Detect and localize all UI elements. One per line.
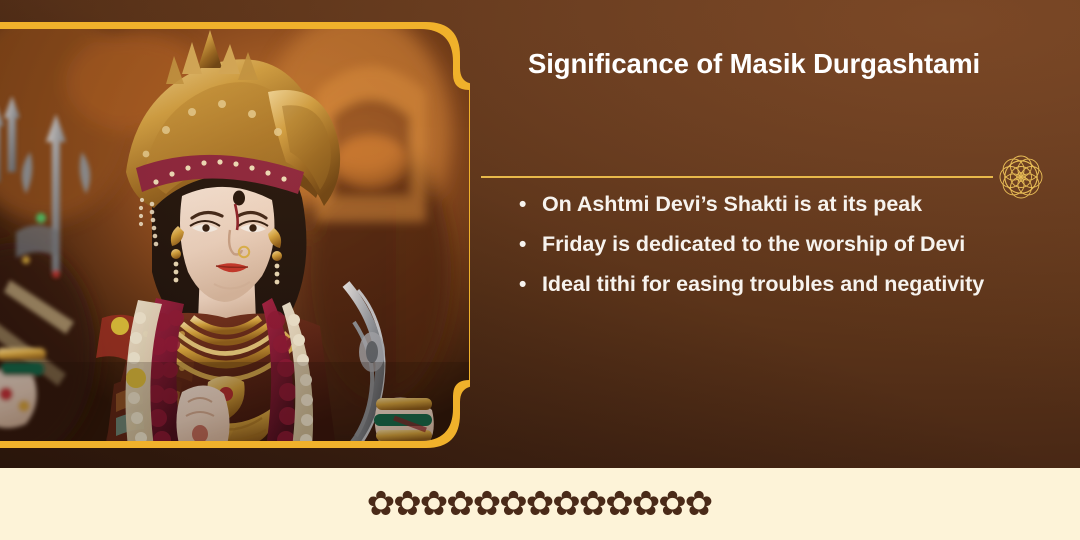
bullet-item-3: Ideal tithi for easing troubles and nega… (516, 265, 1056, 305)
bullet-item-2: Friday is dedicated to the worship of De… (516, 225, 1056, 265)
flower-glyph: ✿ (605, 487, 634, 521)
bullet-item-1: On Ashtmi Devi’s Shakti is at its peak (516, 185, 1056, 225)
slide-canvas: Significance of Masik Durgashtami (0, 0, 1080, 540)
flower-glyph: ✿ (420, 487, 449, 521)
flower-glyph: ✿ (499, 487, 528, 521)
flower-glyph: ✿ (552, 487, 581, 521)
content-column: Significance of Masik Durgashtami (497, 0, 1080, 468)
durga-idol-photo (0, 22, 470, 448)
flower-glyph: ✿ (632, 487, 661, 521)
flower-ornament-row: ✿✿✿✿✿✿✿✿✿✿✿✿✿ (368, 487, 713, 521)
bullet-list: On Ashtmi Devi’s Shakti is at its peak F… (516, 185, 1056, 305)
flower-glyph: ✿ (579, 487, 608, 521)
flower-glyph: ✿ (393, 487, 422, 521)
flower-glyph: ✿ (658, 487, 687, 521)
flower-glyph: ✿ (446, 487, 475, 521)
flower-glyph: ✿ (526, 487, 555, 521)
divider-line (481, 176, 993, 178)
flower-glyph: ✿ (685, 487, 714, 521)
slide-title: Significance of Masik Durgashtami (528, 44, 988, 84)
photo-frame (0, 22, 470, 448)
bottom-ornament-strip: ✿✿✿✿✿✿✿✿✿✿✿✿✿ (0, 468, 1080, 540)
flower-glyph: ✿ (473, 487, 502, 521)
flower-glyph: ✿ (367, 487, 396, 521)
